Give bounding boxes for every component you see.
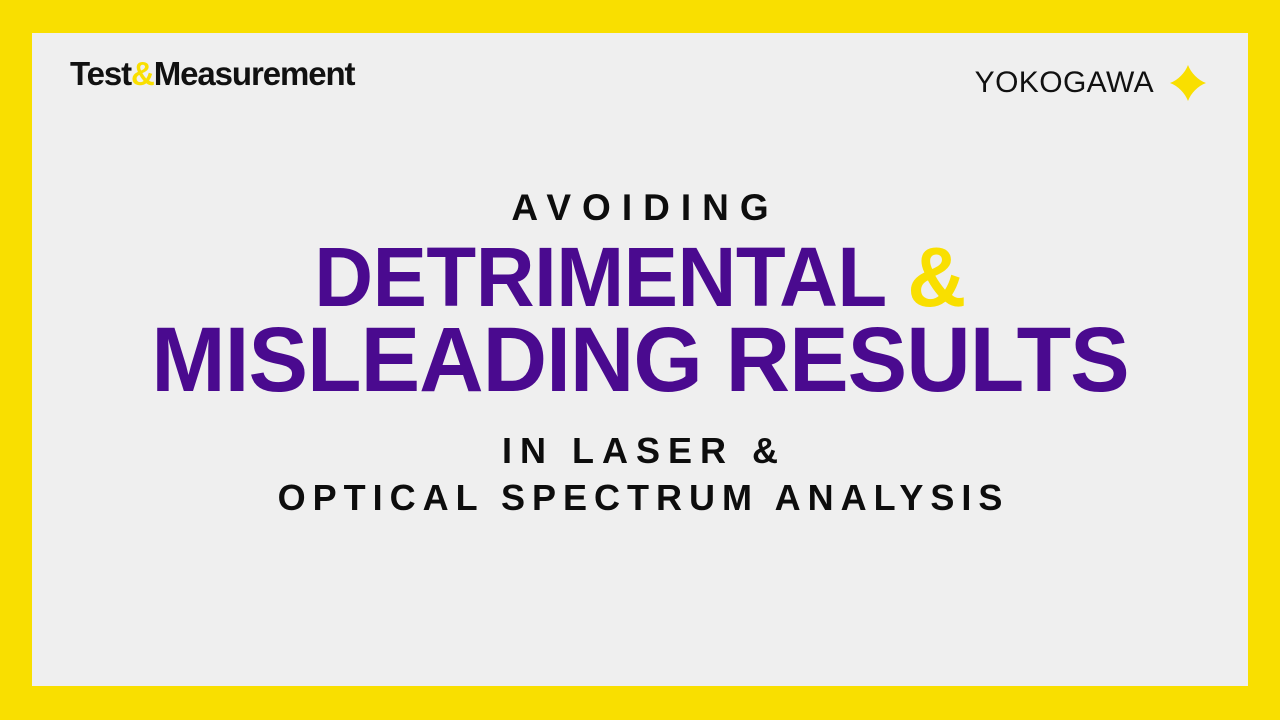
yokogawa-logo-lockup: YOKOGAWA bbox=[975, 65, 1206, 101]
slide-header: Test&Measurement YOKOGAWA bbox=[32, 33, 1248, 133]
slide-root: Test&Measurement YOKOGAWA AVOIDING DETRI… bbox=[0, 0, 1280, 720]
test-and-measurement-logo: Test&Measurement bbox=[70, 57, 354, 90]
title-eyebrow: AVOIDING bbox=[32, 189, 1248, 228]
title-block: AVOIDING DETRIMENTAL & MISLEADING RESULT… bbox=[32, 189, 1248, 522]
title-subline-2: OPTICAL SPECTRUM ANALYSIS bbox=[32, 475, 1248, 522]
brand-prefix: Test bbox=[70, 55, 131, 92]
brand-ampersand: & bbox=[131, 55, 154, 92]
title-subline-1: IN LASER & bbox=[32, 428, 1248, 475]
yokogawa-wordmark: YOKOGAWA bbox=[975, 68, 1154, 98]
slide-panel: Test&Measurement YOKOGAWA AVOIDING DETRI… bbox=[32, 33, 1248, 686]
title-headline-line-2: MISLEADING RESULTS bbox=[50, 315, 1230, 406]
title-headline-line-1: DETRIMENTAL & bbox=[50, 236, 1230, 319]
yokogawa-diamond-icon bbox=[1170, 65, 1206, 101]
brand-suffix: Measurement bbox=[154, 55, 355, 92]
